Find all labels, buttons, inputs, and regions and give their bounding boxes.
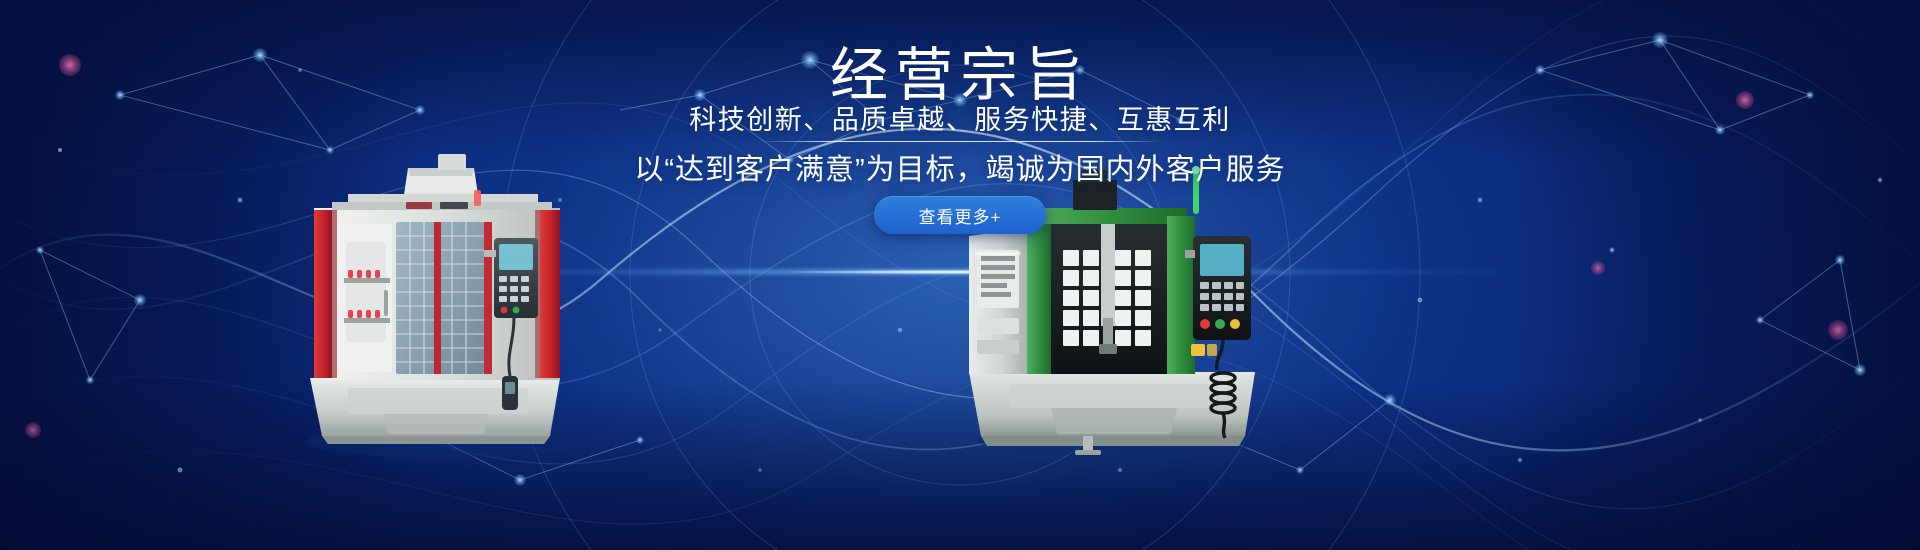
banner-tagline: 以“达到客户满意”为目标，竭诚为国内外客户服务 (0, 146, 1920, 188)
text-divider (759, 141, 1161, 142)
view-more-button[interactable]: 查看更多+ (874, 196, 1046, 234)
hero-banner: 经营宗旨 科技创新、品质卓越、服务快捷、互惠互利 以“达到客户满意”为目标，竭诚… (0, 0, 1920, 550)
banner-subtitle: 科技创新、品质卓越、服务快捷、互惠互利 (0, 98, 1920, 137)
banner-content: 经营宗旨 科技创新、品质卓越、服务快捷、互惠互利 以“达到客户满意”为目标，竭诚… (0, 0, 1920, 550)
